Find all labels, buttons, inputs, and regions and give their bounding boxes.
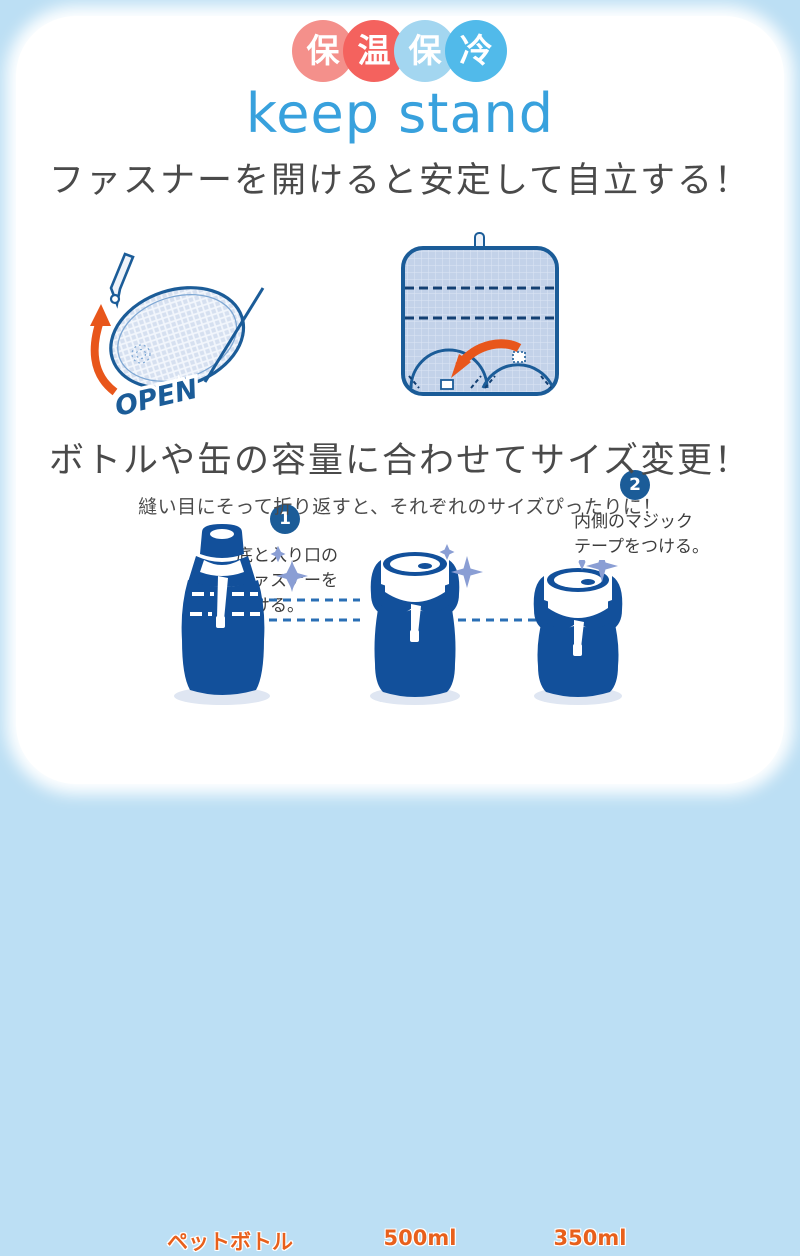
size-comparison-row: ペットボトル 500ml 350ml	[0, 520, 800, 750]
size-label-350ml: 350ml	[510, 1226, 670, 1250]
brand-wordmark: keep stand	[0, 82, 800, 145]
pouch-unzipped-diagram: OPEN OPEN	[85, 242, 275, 417]
size-label-pet-bottle: ペットボトル	[140, 1226, 320, 1256]
section-2-heading-text: ボトルや缶の容量に合わせてサイズ変更！	[45, 432, 755, 483]
section-1-heading: ファスナーを開けると安定して自立する！	[0, 152, 800, 203]
pet-bottle-illustration	[160, 520, 310, 710]
feature-badges: 保 温 保 冷	[0, 20, 800, 82]
velcro-patch-right	[513, 352, 525, 362]
size-label-500ml: 500ml	[350, 1226, 490, 1250]
section-2-subheading: 縫い目にそって折り返すと、それぞれのサイズぴったりに！	[0, 492, 800, 519]
steps-row: OPEN OPEN 1 底と入り口の ファスナーを あける。	[0, 222, 800, 412]
can-350ml-illustration	[520, 560, 655, 710]
section-2-heading: ボトルや缶の容量に合わせてサイズ変更！	[0, 432, 800, 483]
infographic-canvas: 保 温 保 冷 keep stand ファスナーを開けると安定して自立する！	[0, 0, 800, 800]
section-1-heading-text: ファスナーを開けると安定して自立する！	[45, 152, 755, 203]
badge-char-4: 冷	[445, 20, 507, 82]
velcro-patch-left	[441, 380, 453, 389]
pouch-flat-velcro-diagram	[393, 230, 568, 402]
can-500ml-illustration	[355, 542, 490, 710]
